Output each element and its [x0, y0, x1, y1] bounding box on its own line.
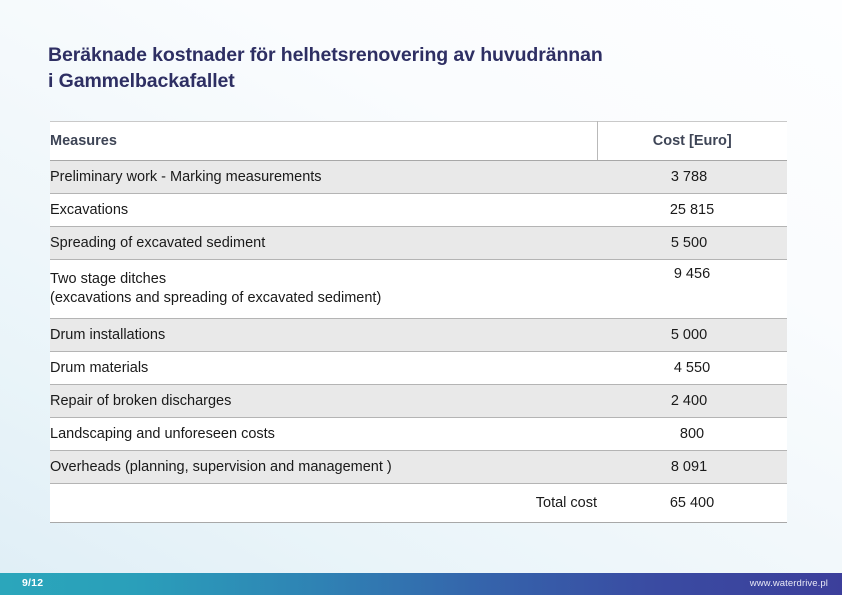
cost-table: Measures Cost [Euro] Preliminary work - … — [50, 121, 787, 523]
table-row: Overheads (planning, supervision and man… — [50, 451, 787, 484]
total-value: 65 400 — [597, 484, 787, 523]
title-line-2: i Gammelbackafallet — [48, 68, 708, 94]
cell-measure: Drum materials — [50, 352, 597, 385]
cell-measure: Landscaping and unforeseen costs — [50, 418, 597, 451]
slide: Beräknade kostnader för helhetsrenoverin… — [0, 0, 842, 595]
page-title: Beräknade kostnader för helhetsrenoverin… — [48, 42, 708, 94]
footer-bar: 9/12 www.waterdrive.pl — [0, 573, 842, 595]
cost-table-container: Measures Cost [Euro] Preliminary work - … — [50, 121, 787, 523]
cell-cost: 5 500 — [597, 227, 787, 260]
table-row: Drum materials 4 550 — [50, 352, 787, 385]
table-row: Two stage ditches (excavations and sprea… — [50, 260, 787, 319]
table-total-row: Total cost 65 400 — [50, 484, 787, 523]
cell-cost: 2 400 — [597, 385, 787, 418]
title-line-1: Beräknade kostnader för helhetsrenoverin… — [48, 42, 708, 68]
cell-cost: 3 788 — [597, 161, 787, 194]
footer-website-url: www.waterdrive.pl — [750, 578, 828, 589]
cell-measure: Repair of broken discharges — [50, 385, 597, 418]
table-row: Preliminary work - Marking measurements … — [50, 161, 787, 194]
cell-measure: Preliminary work - Marking measurements — [50, 161, 597, 194]
cell-cost: 9 456 — [597, 260, 787, 319]
column-header-cost: Cost [Euro] — [597, 122, 787, 161]
cell-measure: Excavations — [50, 194, 597, 227]
cell-cost: 4 550 — [597, 352, 787, 385]
column-header-measures: Measures — [50, 122, 597, 161]
table-row: Repair of broken discharges 2 400 — [50, 385, 787, 418]
table-body: Preliminary work - Marking measurements … — [50, 161, 787, 523]
total-label: Total cost — [50, 484, 597, 523]
table-row: Spreading of excavated sediment 5 500 — [50, 227, 787, 260]
cell-measure-line-1: Two stage ditches — [50, 271, 166, 287]
cell-cost: 800 — [597, 418, 787, 451]
cell-cost: 25 815 — [597, 194, 787, 227]
cell-measure: Spreading of excavated sediment — [50, 227, 597, 260]
table-row: Drum installations 5 000 — [50, 319, 787, 352]
cell-measure: Overheads (planning, supervision and man… — [50, 451, 597, 484]
cell-measure: Two stage ditches (excavations and sprea… — [50, 260, 597, 319]
table-row: Excavations 25 815 — [50, 194, 787, 227]
cell-cost: 8 091 — [597, 451, 787, 484]
table-row: Landscaping and unforeseen costs 800 — [50, 418, 787, 451]
cell-cost: 5 000 — [597, 319, 787, 352]
cell-measure-line-2: (excavations and spreading of excavated … — [50, 289, 597, 308]
table-header-row: Measures Cost [Euro] — [50, 122, 787, 161]
slide-page-number: 9/12 — [22, 577, 43, 589]
cell-measure: Drum installations — [50, 319, 597, 352]
